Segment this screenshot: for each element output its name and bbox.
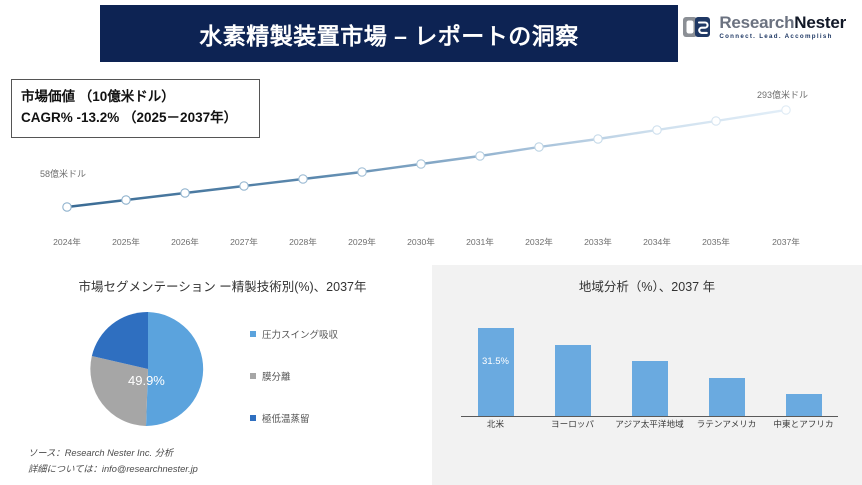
- bar-label-latin-america: ラテンアメリカ: [688, 418, 765, 430]
- legend-swatch-icon: [250, 373, 256, 379]
- bar-data-label: 31.5%: [482, 356, 509, 367]
- source-note: ソース：Research Nester Inc. 分析 詳細については：info…: [28, 446, 198, 477]
- x-tick-2024: 2024年: [53, 236, 81, 248]
- x-tick-2025: 2025年: [112, 236, 140, 248]
- x-tick-2027: 2027年: [230, 236, 258, 248]
- line-chart-x-axis: 2024年 2025年 2026年 2027年 2028年 2029年 2030…: [0, 236, 862, 256]
- x-tick-2031: 2031年: [466, 236, 494, 248]
- line-chart-end-value-label: 293億米ドル: [757, 88, 808, 101]
- bar-label-asia-pacific: アジア太平洋地域: [611, 418, 688, 430]
- bar-chart-area: 31.5% 北米 ヨーロッパ アジア太平洋地域 ラテンアメリカ 中東とアフリカ: [457, 313, 842, 438]
- legend-item-pressure-swing-adsorption: 圧力スイング吸収: [250, 313, 425, 355]
- header-banner: 水素精製装置市場 – レポートの洞察: [100, 5, 678, 62]
- source-line-2: 詳細については：info@researchnester.jp: [28, 462, 198, 477]
- bar-chart-x-axis: 北米 ヨーロッパ アジア太平洋地域 ラテンアメリカ 中東とアフリカ: [457, 418, 842, 438]
- x-tick-2032: 2032年: [525, 236, 553, 248]
- legend-swatch-icon: [250, 331, 256, 337]
- bar-asia-pacific: [632, 361, 668, 416]
- source-line-1: ソース：Research Nester Inc. 分析: [28, 446, 198, 461]
- segmentation-panel: 市場セグメンテーション ー精製技術別(%)、2037年 49.9% 圧力スイング…: [0, 265, 430, 485]
- bar-label-north-america: 北米: [457, 418, 534, 430]
- pie-slice-pressure-swing-adsorption: [146, 312, 203, 426]
- bar-europe: [555, 345, 591, 416]
- logo-tagline: Connect. Lead. Accomplish: [719, 34, 846, 40]
- legend-label: 極低温蒸留: [262, 411, 310, 425]
- legend-item-cryogenic-distillation: 極低温蒸留: [250, 397, 425, 439]
- pie-legend: 圧力スイング吸収 膜分離 極低温蒸留: [250, 313, 425, 439]
- bar-latin-america: [709, 378, 745, 416]
- pie-chart: [88, 309, 208, 429]
- page-title: 水素精製装置市場 – レポートの洞察: [199, 17, 579, 51]
- x-tick-2029: 2029年: [348, 236, 376, 248]
- x-tick-2030: 2030年: [407, 236, 435, 248]
- x-tick-2035: 2035年: [702, 236, 730, 248]
- regional-analysis-panel: 地域分析（%）、2037 年 31.5% 北米 ヨーロッパ: [432, 265, 862, 485]
- bar-column-north-america: 31.5%: [457, 316, 534, 416]
- x-tick-2026: 2026年: [171, 236, 199, 248]
- x-tick-2033: 2033年: [584, 236, 612, 248]
- bar-north-america: 31.5%: [478, 328, 514, 416]
- logo-brand-name: ResearchNester: [719, 14, 846, 31]
- logo-brand-nester: Nester: [794, 13, 846, 32]
- bar-chart-plot: 31.5%: [457, 316, 842, 416]
- legend-swatch-icon: [250, 415, 256, 421]
- bar-column-middle-east-africa: [765, 316, 842, 416]
- bar-chart-title: 地域分析（%）、2037 年: [432, 265, 862, 296]
- pie-chart-title: 市場セグメンテーション ー精製技術別(%)、2037年: [0, 265, 430, 296]
- x-tick-2037: 2037年: [772, 236, 800, 248]
- pie-data-label: 49.9%: [128, 373, 165, 388]
- bar-label-europe: ヨーロッパ: [534, 418, 611, 430]
- x-tick-2028: 2028年: [289, 236, 317, 248]
- x-tick-2034: 2034年: [643, 236, 671, 248]
- link-chain-logo-icon: [682, 14, 712, 40]
- bar-column-europe: [534, 316, 611, 416]
- legend-label: 膜分離: [262, 369, 291, 383]
- pie-chart-area: 49.9% 圧力スイング吸収 膜分離 極低温蒸留: [0, 313, 430, 453]
- bar-middle-east-africa: [786, 394, 822, 416]
- legend-label: 圧力スイング吸収: [262, 327, 338, 341]
- line-chart-start-value-label: 58億米ドル: [40, 167, 86, 180]
- legend-item-membrane-separation: 膜分離: [250, 355, 425, 397]
- bar-label-middle-east-africa: 中東とアフリカ: [765, 418, 842, 430]
- bar-chart-axis-line: [461, 416, 838, 417]
- market-value-line-chart: [0, 62, 862, 262]
- brand-logo: ResearchNester Connect. Lead. Accomplish: [682, 14, 846, 40]
- logo-text: ResearchNester Connect. Lead. Accomplish: [719, 14, 846, 40]
- bar-column-latin-america: [688, 316, 765, 416]
- bar-column-asia-pacific: [611, 316, 688, 416]
- line-series-path: [67, 110, 786, 207]
- logo-brand-research: Research: [719, 13, 794, 32]
